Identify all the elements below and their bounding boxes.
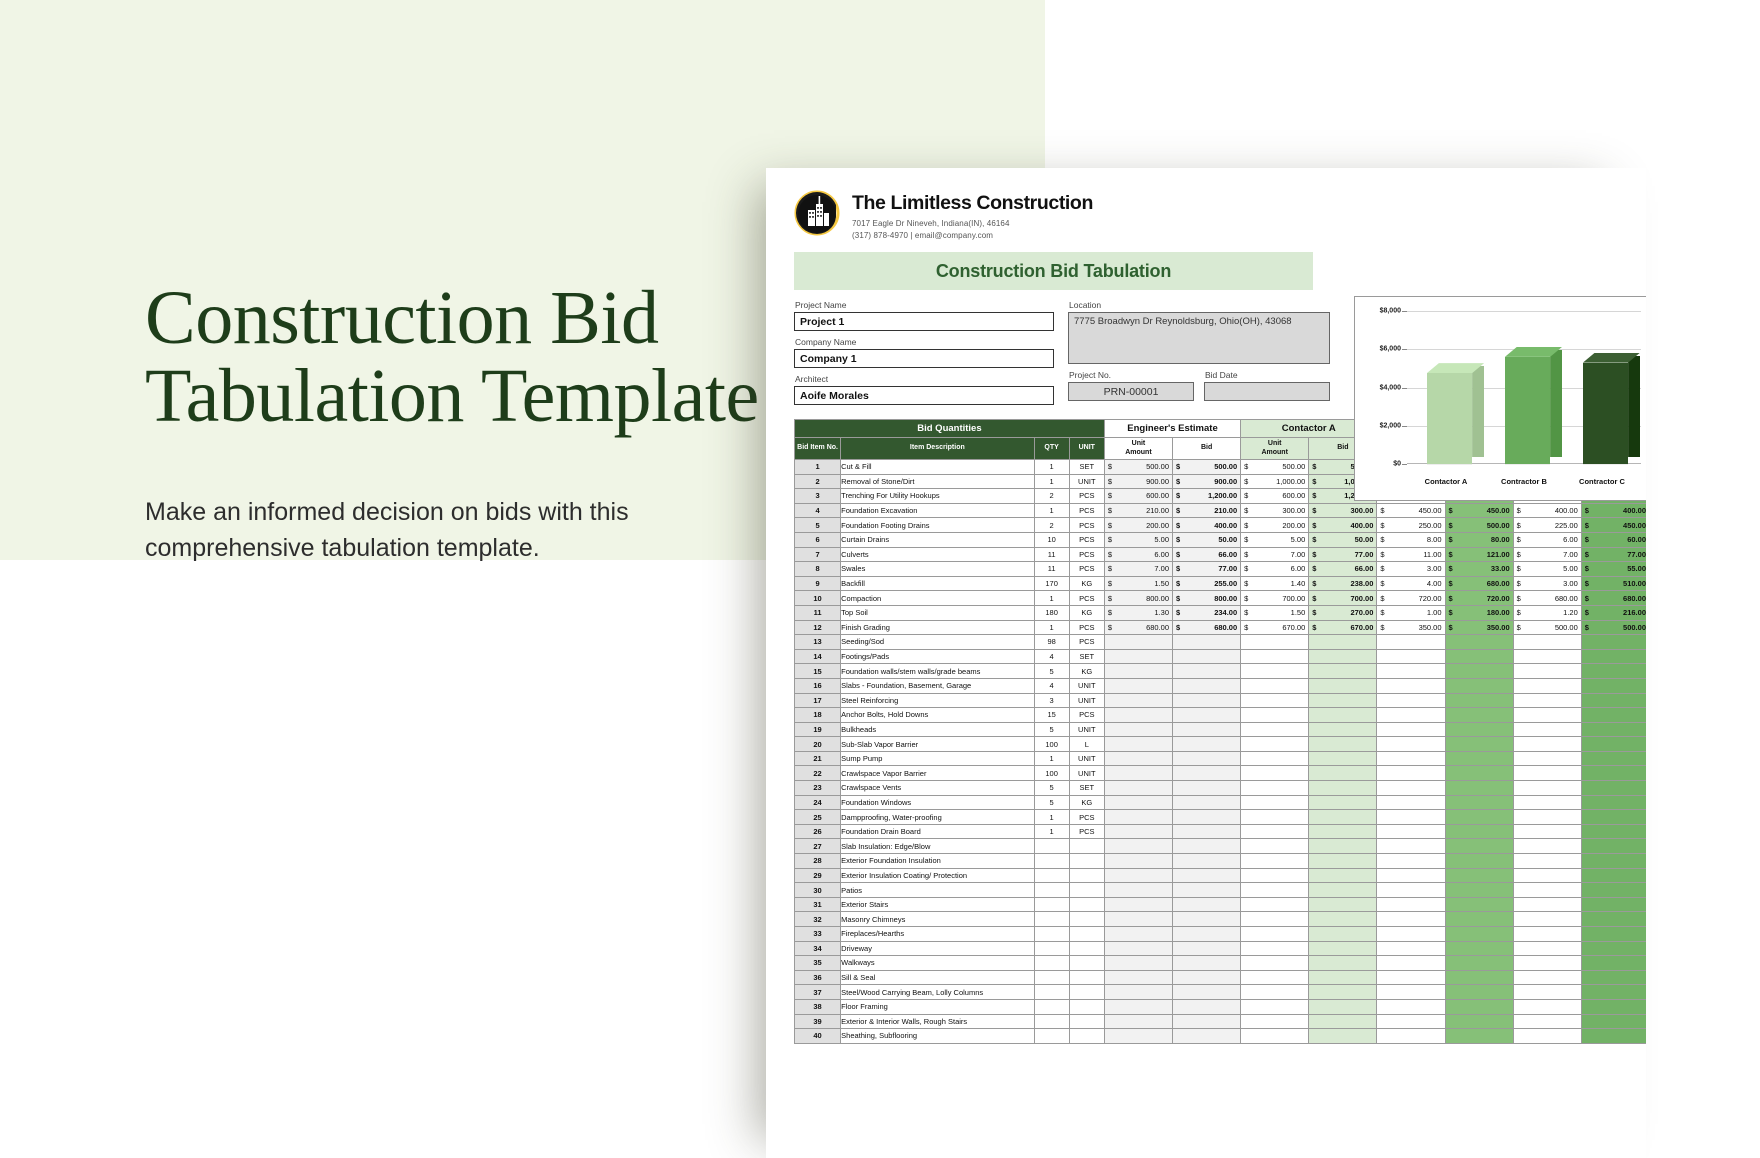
table-cell-amount[interactable]: $5.00: [1513, 562, 1581, 577]
table-cell-qty[interactable]: 1: [1034, 824, 1069, 839]
table-cell-amount[interactable]: $50.00: [1173, 532, 1241, 547]
table-cell-description[interactable]: Steel/Wood Carrying Beam, Lolly Columns: [841, 985, 1034, 1000]
table-cell-amount[interactable]: [1377, 912, 1445, 927]
table-cell-qty[interactable]: 1: [1034, 620, 1069, 635]
table-cell-amount[interactable]: $450.00: [1445, 503, 1513, 518]
table-cell-amount[interactable]: [1241, 839, 1309, 854]
table-cell-amount[interactable]: [1104, 927, 1172, 942]
table-cell-amount[interactable]: [1445, 912, 1513, 927]
table-cell-amount[interactable]: [1309, 956, 1377, 971]
table-cell-description[interactable]: Crawlspace Vapor Barrier: [841, 766, 1034, 781]
table-cell-amount[interactable]: [1309, 678, 1377, 693]
table-cell-amount[interactable]: $500.00: [1581, 620, 1646, 635]
table-cell-amount[interactable]: [1173, 824, 1241, 839]
table-cell-amount[interactable]: [1104, 824, 1172, 839]
table-cell-amount[interactable]: [1581, 751, 1646, 766]
table-cell-amount[interactable]: [1173, 708, 1241, 723]
table-cell-unit[interactable]: PCS: [1069, 708, 1104, 723]
table-cell-description[interactable]: Cut & Fill: [841, 460, 1034, 475]
table-cell-amount[interactable]: $6.00: [1513, 532, 1581, 547]
table-cell-amount[interactable]: [1445, 810, 1513, 825]
table-cell-description[interactable]: Slabs - Foundation, Basement, Garage: [841, 678, 1034, 693]
table-cell-amount[interactable]: [1445, 678, 1513, 693]
table-cell-description[interactable]: Fireplaces/Hearths: [841, 927, 1034, 942]
table-cell-amount[interactable]: $700.00: [1241, 591, 1309, 606]
table-cell-unit[interactable]: [1069, 1029, 1104, 1044]
table-cell-amount[interactable]: [1445, 927, 1513, 942]
table-cell-qty[interactable]: 1: [1034, 591, 1069, 606]
table-cell-amount[interactable]: $33.00: [1445, 562, 1513, 577]
table-cell-unit[interactable]: PCS: [1069, 562, 1104, 577]
table-cell-unit[interactable]: SET: [1069, 460, 1104, 475]
table-cell-amount[interactable]: [1445, 1029, 1513, 1044]
table-cell-amount[interactable]: [1513, 766, 1581, 781]
table-cell-amount[interactable]: [1309, 999, 1377, 1014]
table-cell-unit[interactable]: UNIT: [1069, 766, 1104, 781]
table-cell-amount[interactable]: $500.00: [1241, 460, 1309, 475]
table-cell-amount[interactable]: [1581, 810, 1646, 825]
table-cell-amount[interactable]: [1173, 999, 1241, 1014]
table-cell-qty[interactable]: [1034, 970, 1069, 985]
table-cell-amount[interactable]: [1445, 824, 1513, 839]
table-cell-amount[interactable]: $66.00: [1173, 547, 1241, 562]
table-cell-unit[interactable]: PCS: [1069, 547, 1104, 562]
table-cell-amount[interactable]: [1309, 985, 1377, 1000]
table-cell-unit[interactable]: [1069, 854, 1104, 869]
table-cell-amount[interactable]: [1309, 883, 1377, 898]
table-cell-unit[interactable]: KG: [1069, 605, 1104, 620]
table-cell-amount[interactable]: [1445, 766, 1513, 781]
table-cell-amount[interactable]: $7.00: [1241, 547, 1309, 562]
company-name-field[interactable]: Company 1: [794, 349, 1054, 368]
table-cell-amount[interactable]: [1309, 868, 1377, 883]
table-cell-amount[interactable]: [1513, 664, 1581, 679]
table-cell-amount[interactable]: [1581, 664, 1646, 679]
table-cell-amount[interactable]: [1241, 999, 1309, 1014]
table-cell-description[interactable]: Exterior & Interior Walls, Rough Stairs: [841, 1014, 1034, 1029]
table-cell-amount[interactable]: [1309, 810, 1377, 825]
table-cell-qty[interactable]: 15: [1034, 708, 1069, 723]
table-cell-amount[interactable]: [1309, 927, 1377, 942]
table-cell-description[interactable]: Steel Reinforcing: [841, 693, 1034, 708]
table-cell-amount[interactable]: [1581, 635, 1646, 650]
table-cell-amount[interactable]: [1377, 956, 1445, 971]
table-cell-amount[interactable]: [1513, 781, 1581, 796]
table-cell-amount[interactable]: [1173, 1029, 1241, 1044]
table-cell-amount[interactable]: $4.00: [1377, 576, 1445, 591]
table-cell-amount[interactable]: $77.00: [1309, 547, 1377, 562]
table-cell-amount[interactable]: [1173, 839, 1241, 854]
table-cell-unit[interactable]: PCS: [1069, 532, 1104, 547]
table-cell-amount[interactable]: [1173, 649, 1241, 664]
table-cell-amount[interactable]: [1173, 751, 1241, 766]
table-cell-amount[interactable]: [1581, 985, 1646, 1000]
table-cell-amount[interactable]: [1241, 883, 1309, 898]
table-cell-amount[interactable]: $3.00: [1377, 562, 1445, 577]
table-cell-amount[interactable]: [1173, 810, 1241, 825]
table-cell-amount[interactable]: [1309, 722, 1377, 737]
table-cell-amount[interactable]: [1104, 1029, 1172, 1044]
table-cell-amount[interactable]: [1309, 1029, 1377, 1044]
table-cell-amount[interactable]: [1445, 722, 1513, 737]
table-cell-qty[interactable]: 100: [1034, 737, 1069, 752]
table-cell-amount[interactable]: $1.40: [1241, 576, 1309, 591]
table-cell-description[interactable]: Dampproofing, Water-proofing: [841, 810, 1034, 825]
table-cell-amount[interactable]: [1445, 708, 1513, 723]
table-cell-amount[interactable]: $500.00: [1513, 620, 1581, 635]
table-cell-amount[interactable]: [1241, 970, 1309, 985]
bid-date-field[interactable]: [1204, 382, 1330, 401]
table-cell-amount[interactable]: [1513, 722, 1581, 737]
table-cell-description[interactable]: Slab Insulation: Edge/Blow: [841, 839, 1034, 854]
table-cell-amount[interactable]: $1.30: [1104, 605, 1172, 620]
table-cell-amount[interactable]: [1581, 795, 1646, 810]
table-cell-amount[interactable]: $500.00: [1173, 460, 1241, 475]
table-cell-description[interactable]: Finish Grading: [841, 620, 1034, 635]
table-cell-amount[interactable]: [1445, 795, 1513, 810]
table-cell-amount[interactable]: [1377, 1014, 1445, 1029]
table-cell-amount[interactable]: $700.00: [1309, 591, 1377, 606]
table-cell-description[interactable]: Sub-Slab Vapor Barrier: [841, 737, 1034, 752]
table-cell-amount[interactable]: [1173, 737, 1241, 752]
table-cell-amount[interactable]: [1173, 854, 1241, 869]
table-cell-description[interactable]: Curtain Drains: [841, 532, 1034, 547]
table-cell-amount[interactable]: [1309, 737, 1377, 752]
table-cell-amount[interactable]: [1104, 985, 1172, 1000]
table-cell-description[interactable]: Bulkheads: [841, 722, 1034, 737]
table-cell-qty[interactable]: 1: [1034, 460, 1069, 475]
table-cell-amount[interactable]: [1377, 649, 1445, 664]
table-cell-description[interactable]: Anchor Bolts, Hold Downs: [841, 708, 1034, 723]
table-cell-amount[interactable]: $450.00: [1581, 518, 1646, 533]
table-cell-amount[interactable]: [1581, 649, 1646, 664]
table-cell-amount[interactable]: $238.00: [1309, 576, 1377, 591]
table-cell-amount[interactable]: [1173, 635, 1241, 650]
table-cell-amount[interactable]: [1445, 737, 1513, 752]
table-cell-amount[interactable]: [1241, 737, 1309, 752]
table-cell-amount[interactable]: $1.50: [1104, 576, 1172, 591]
table-cell-description[interactable]: Trenching For Utility Hookups: [841, 489, 1034, 504]
table-cell-amount[interactable]: [1104, 693, 1172, 708]
table-cell-amount[interactable]: [1581, 1014, 1646, 1029]
table-cell-amount[interactable]: [1309, 649, 1377, 664]
table-cell-description[interactable]: Masonry Chimneys: [841, 912, 1034, 927]
table-cell-amount[interactable]: [1513, 897, 1581, 912]
table-cell-amount[interactable]: [1377, 635, 1445, 650]
table-cell-amount[interactable]: $680.00: [1104, 620, 1172, 635]
table-cell-amount[interactable]: $300.00: [1309, 503, 1377, 518]
table-cell-amount[interactable]: $300.00: [1241, 503, 1309, 518]
table-cell-qty[interactable]: [1034, 927, 1069, 942]
table-cell-amount[interactable]: $210.00: [1173, 503, 1241, 518]
table-cell-amount[interactable]: [1377, 810, 1445, 825]
table-cell-amount[interactable]: $670.00: [1309, 620, 1377, 635]
table-cell-description[interactable]: Floor Framing: [841, 999, 1034, 1014]
table-cell-amount[interactable]: [1513, 678, 1581, 693]
table-cell-amount[interactable]: [1377, 708, 1445, 723]
table-cell-amount[interactable]: $350.00: [1445, 620, 1513, 635]
table-cell-qty[interactable]: [1034, 912, 1069, 927]
table-cell-amount[interactable]: [1377, 985, 1445, 1000]
table-cell-amount[interactable]: $600.00: [1241, 489, 1309, 504]
table-cell-amount[interactable]: $121.00: [1445, 547, 1513, 562]
table-cell-qty[interactable]: 5: [1034, 795, 1069, 810]
table-cell-amount[interactable]: [1241, 868, 1309, 883]
table-cell-unit[interactable]: SET: [1069, 781, 1104, 796]
table-cell-amount[interactable]: $1.00: [1377, 605, 1445, 620]
table-cell-description[interactable]: Removal of Stone/Dirt: [841, 474, 1034, 489]
table-cell-qty[interactable]: [1034, 941, 1069, 956]
table-cell-qty[interactable]: [1034, 1029, 1069, 1044]
table-cell-amount[interactable]: [1445, 897, 1513, 912]
table-cell-amount[interactable]: $80.00: [1445, 532, 1513, 547]
table-cell-amount[interactable]: $900.00: [1173, 474, 1241, 489]
table-cell-amount[interactable]: $720.00: [1445, 591, 1513, 606]
table-cell-amount[interactable]: $200.00: [1241, 518, 1309, 533]
table-cell-amount[interactable]: $180.00: [1445, 605, 1513, 620]
table-cell-amount[interactable]: [1513, 839, 1581, 854]
table-cell-amount[interactable]: $5.00: [1104, 532, 1172, 547]
table-cell-amount[interactable]: [1241, 722, 1309, 737]
table-cell-amount[interactable]: [1513, 999, 1581, 1014]
table-cell-amount[interactable]: [1445, 985, 1513, 1000]
table-cell-description[interactable]: Crawlspace Vents: [841, 781, 1034, 796]
table-cell-amount[interactable]: [1241, 927, 1309, 942]
project-no-field[interactable]: PRN-00001: [1068, 382, 1194, 401]
table-cell-amount[interactable]: [1241, 766, 1309, 781]
table-cell-amount[interactable]: $8.00: [1377, 532, 1445, 547]
table-cell-qty[interactable]: 3: [1034, 693, 1069, 708]
table-cell-description[interactable]: Seeding/Sod: [841, 635, 1034, 650]
table-cell-amount[interactable]: $77.00: [1173, 562, 1241, 577]
table-cell-description[interactable]: Exterior Stairs: [841, 897, 1034, 912]
table-cell-amount[interactable]: [1513, 635, 1581, 650]
table-cell-amount[interactable]: $720.00: [1377, 591, 1445, 606]
table-cell-amount[interactable]: [1173, 970, 1241, 985]
table-cell-unit[interactable]: [1069, 941, 1104, 956]
table-cell-amount[interactable]: [1445, 649, 1513, 664]
table-cell-qty[interactable]: 5: [1034, 664, 1069, 679]
table-cell-unit[interactable]: PCS: [1069, 489, 1104, 504]
table-cell-amount[interactable]: [1513, 708, 1581, 723]
table-cell-amount[interactable]: [1513, 824, 1581, 839]
table-cell-amount[interactable]: $50.00: [1309, 532, 1377, 547]
table-cell-amount[interactable]: [1377, 1029, 1445, 1044]
table-cell-amount[interactable]: [1241, 649, 1309, 664]
table-cell-amount[interactable]: [1241, 678, 1309, 693]
table-cell-amount[interactable]: [1173, 985, 1241, 1000]
table-cell-amount[interactable]: [1377, 751, 1445, 766]
table-cell-amount[interactable]: $680.00: [1581, 591, 1646, 606]
table-cell-amount[interactable]: [1104, 912, 1172, 927]
table-cell-amount[interactable]: [1309, 1014, 1377, 1029]
table-cell-unit[interactable]: PCS: [1069, 503, 1104, 518]
table-cell-amount[interactable]: $680.00: [1445, 576, 1513, 591]
table-cell-unit[interactable]: [1069, 985, 1104, 1000]
table-cell-amount[interactable]: [1581, 781, 1646, 796]
table-cell-unit[interactable]: PCS: [1069, 591, 1104, 606]
table-cell-amount[interactable]: [1241, 824, 1309, 839]
table-cell-unit[interactable]: [1069, 883, 1104, 898]
table-cell-qty[interactable]: 4: [1034, 649, 1069, 664]
table-cell-amount[interactable]: [1173, 693, 1241, 708]
table-cell-qty[interactable]: [1034, 868, 1069, 883]
table-cell-amount[interactable]: [1581, 868, 1646, 883]
table-cell-amount[interactable]: [1513, 941, 1581, 956]
table-cell-amount[interactable]: [1241, 708, 1309, 723]
table-cell-amount[interactable]: [1377, 927, 1445, 942]
table-cell-qty[interactable]: 180: [1034, 605, 1069, 620]
table-cell-amount[interactable]: [1309, 795, 1377, 810]
table-cell-amount[interactable]: [1513, 883, 1581, 898]
table-cell-amount[interactable]: [1377, 824, 1445, 839]
table-cell-description[interactable]: Driveway: [841, 941, 1034, 956]
table-cell-amount[interactable]: [1104, 999, 1172, 1014]
table-cell-description[interactable]: Walkways: [841, 956, 1034, 971]
table-cell-description[interactable]: Foundation Drain Board: [841, 824, 1034, 839]
table-cell-qty[interactable]: 1: [1034, 474, 1069, 489]
table-cell-amount[interactable]: $400.00: [1173, 518, 1241, 533]
table-cell-amount[interactable]: [1377, 795, 1445, 810]
table-cell-amount[interactable]: [1445, 693, 1513, 708]
table-cell-qty[interactable]: [1034, 839, 1069, 854]
table-cell-amount[interactable]: $250.00: [1377, 518, 1445, 533]
table-cell-amount[interactable]: [1377, 883, 1445, 898]
table-cell-amount[interactable]: $600.00: [1104, 489, 1172, 504]
table-cell-amount[interactable]: [1104, 678, 1172, 693]
table-cell-amount[interactable]: [1445, 1014, 1513, 1029]
table-cell-amount[interactable]: [1445, 781, 1513, 796]
table-cell-amount[interactable]: $60.00: [1581, 532, 1646, 547]
table-cell-amount[interactable]: [1241, 751, 1309, 766]
table-cell-amount[interactable]: $1.20: [1513, 605, 1581, 620]
table-cell-amount[interactable]: [1104, 868, 1172, 883]
table-cell-amount[interactable]: [1377, 897, 1445, 912]
table-cell-qty[interactable]: [1034, 897, 1069, 912]
table-cell-amount[interactable]: [1581, 1029, 1646, 1044]
table-cell-amount[interactable]: [1173, 795, 1241, 810]
table-cell-amount[interactable]: [1581, 708, 1646, 723]
table-cell-unit[interactable]: [1069, 912, 1104, 927]
table-cell-description[interactable]: Sill & Seal: [841, 970, 1034, 985]
table-cell-qty[interactable]: 2: [1034, 518, 1069, 533]
table-cell-amount[interactable]: [1241, 941, 1309, 956]
table-cell-amount[interactable]: [1173, 956, 1241, 971]
table-cell-amount[interactable]: $55.00: [1581, 562, 1646, 577]
table-cell-amount[interactable]: [1513, 751, 1581, 766]
table-cell-amount[interactable]: $800.00: [1104, 591, 1172, 606]
table-cell-amount[interactable]: [1513, 737, 1581, 752]
table-cell-amount[interactable]: [1581, 824, 1646, 839]
table-cell-amount[interactable]: [1377, 868, 1445, 883]
table-cell-amount[interactable]: [1104, 722, 1172, 737]
table-cell-description[interactable]: Top Soil: [841, 605, 1034, 620]
table-cell-unit[interactable]: KG: [1069, 795, 1104, 810]
table-cell-amount[interactable]: [1513, 693, 1581, 708]
table-cell-amount[interactable]: [1309, 751, 1377, 766]
table-cell-amount[interactable]: [1377, 839, 1445, 854]
table-cell-qty[interactable]: 2: [1034, 489, 1069, 504]
table-cell-amount[interactable]: $5.00: [1241, 532, 1309, 547]
table-cell-amount[interactable]: [1377, 664, 1445, 679]
table-cell-amount[interactable]: $6.00: [1241, 562, 1309, 577]
table-cell-amount[interactable]: [1581, 839, 1646, 854]
table-cell-amount[interactable]: [1377, 941, 1445, 956]
table-cell-amount[interactable]: [1513, 927, 1581, 942]
table-cell-amount[interactable]: $400.00: [1513, 503, 1581, 518]
table-cell-amount[interactable]: [1104, 839, 1172, 854]
table-cell-amount[interactable]: [1104, 854, 1172, 869]
table-cell-amount[interactable]: [1104, 664, 1172, 679]
architect-field[interactable]: Aoife Morales: [794, 386, 1054, 405]
table-cell-amount[interactable]: [1445, 956, 1513, 971]
table-cell-amount[interactable]: [1241, 897, 1309, 912]
table-cell-amount[interactable]: [1581, 927, 1646, 942]
table-cell-amount[interactable]: [1581, 737, 1646, 752]
table-cell-amount[interactable]: [1104, 810, 1172, 825]
table-cell-unit[interactable]: [1069, 956, 1104, 971]
table-cell-amount[interactable]: [1241, 664, 1309, 679]
table-cell-amount[interactable]: [1445, 883, 1513, 898]
table-cell-amount[interactable]: [1309, 664, 1377, 679]
table-cell-amount[interactable]: [1445, 999, 1513, 1014]
table-cell-amount[interactable]: $1.50: [1241, 605, 1309, 620]
table-cell-amount[interactable]: [1581, 883, 1646, 898]
table-cell-amount[interactable]: $270.00: [1309, 605, 1377, 620]
table-cell-qty[interactable]: [1034, 883, 1069, 898]
table-cell-qty[interactable]: [1034, 985, 1069, 1000]
table-cell-unit[interactable]: PCS: [1069, 635, 1104, 650]
table-cell-amount[interactable]: [1377, 737, 1445, 752]
table-cell-amount[interactable]: [1173, 897, 1241, 912]
table-cell-unit[interactable]: [1069, 970, 1104, 985]
table-cell-amount[interactable]: [1173, 781, 1241, 796]
table-cell-amount[interactable]: [1241, 985, 1309, 1000]
table-cell-unit[interactable]: [1069, 927, 1104, 942]
table-cell-unit[interactable]: [1069, 897, 1104, 912]
table-cell-amount[interactable]: [1309, 941, 1377, 956]
table-cell-amount[interactable]: $400.00: [1309, 518, 1377, 533]
table-cell-unit[interactable]: PCS: [1069, 518, 1104, 533]
table-cell-amount[interactable]: [1581, 970, 1646, 985]
table-cell-amount[interactable]: $510.00: [1581, 576, 1646, 591]
table-cell-amount[interactable]: [1309, 635, 1377, 650]
table-cell-unit[interactable]: PCS: [1069, 824, 1104, 839]
table-cell-unit[interactable]: L: [1069, 737, 1104, 752]
table-cell-amount[interactable]: [1104, 781, 1172, 796]
table-cell-amount[interactable]: $500.00: [1104, 460, 1172, 475]
table-cell-unit[interactable]: [1069, 1014, 1104, 1029]
table-cell-amount[interactable]: [1377, 766, 1445, 781]
table-cell-amount[interactable]: $800.00: [1173, 591, 1241, 606]
table-cell-amount[interactable]: [1104, 941, 1172, 956]
location-field[interactable]: 7775 Broadwyn Dr Reynoldsburg, Ohio(OH),…: [1068, 312, 1330, 364]
table-cell-amount[interactable]: [1241, 854, 1309, 869]
table-cell-description[interactable]: Foundation Excavation: [841, 503, 1034, 518]
table-cell-description[interactable]: Exterior Foundation Insulation: [841, 854, 1034, 869]
table-cell-amount[interactable]: [1309, 781, 1377, 796]
table-cell-amount[interactable]: [1309, 693, 1377, 708]
table-cell-amount[interactable]: $77.00: [1581, 547, 1646, 562]
table-cell-qty[interactable]: 98: [1034, 635, 1069, 650]
table-cell-amount[interactable]: [1513, 970, 1581, 985]
table-cell-amount[interactable]: [1513, 1014, 1581, 1029]
table-cell-amount[interactable]: [1309, 912, 1377, 927]
table-cell-amount[interactable]: [1445, 941, 1513, 956]
table-cell-amount[interactable]: $66.00: [1309, 562, 1377, 577]
table-cell-amount[interactable]: [1513, 956, 1581, 971]
table-cell-qty[interactable]: 5: [1034, 722, 1069, 737]
